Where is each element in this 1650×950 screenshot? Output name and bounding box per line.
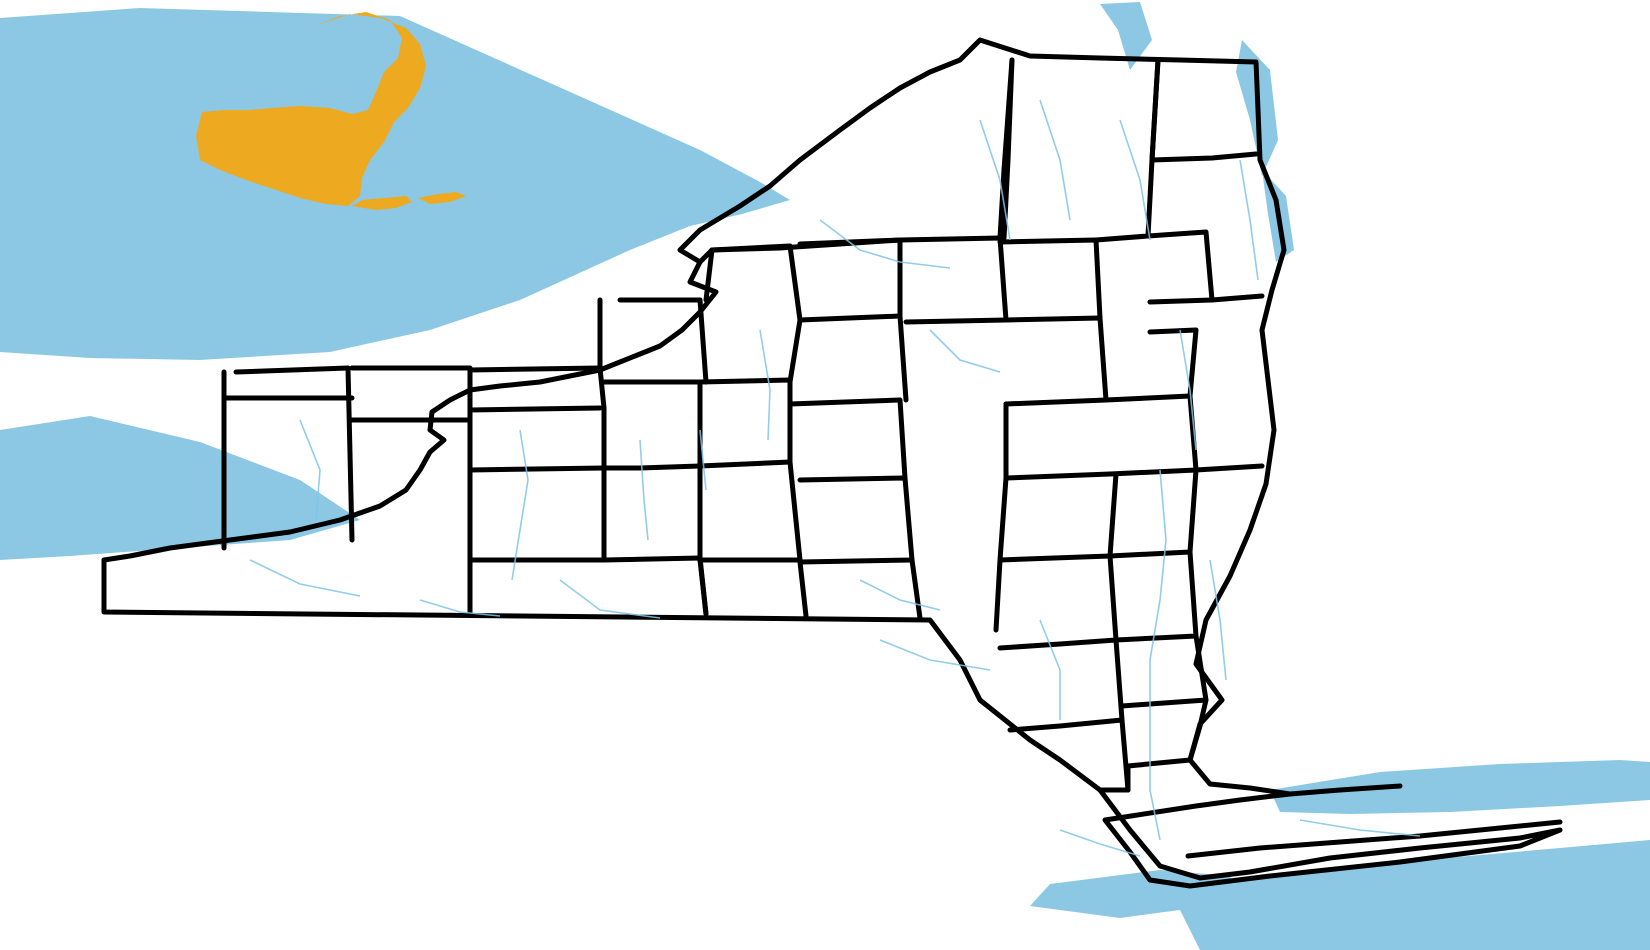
nys-mesonet-logo xyxy=(180,10,660,215)
legend-colorbar xyxy=(1325,168,1373,498)
ny-state-shape xyxy=(196,12,426,206)
map-figure xyxy=(0,0,1650,950)
